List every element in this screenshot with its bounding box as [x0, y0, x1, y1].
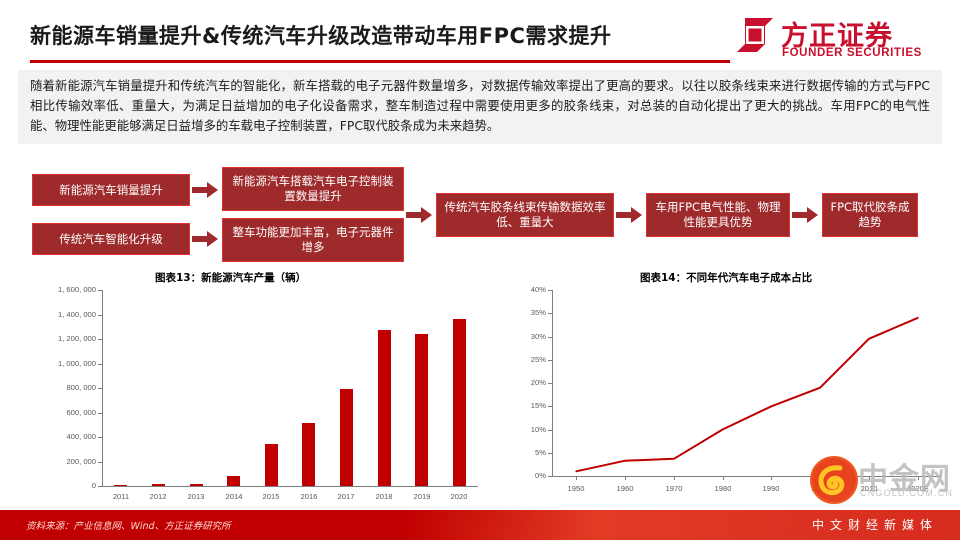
bar-chart-y-tick: [98, 364, 102, 365]
flow-diagram: 新能源汽车销量提升 传统汽车智能化升级 新能源汽车搭载汽车电子控制装置数量提升 …: [0, 166, 960, 274]
bar-chart-x-tick-label: 2014: [216, 492, 252, 501]
line-chart-electronics-cost: 图表14：不同年代汽车电子成本占比 0%5%10%15%20%25%30%35%…: [492, 268, 952, 506]
bar-chart-y-tick: [98, 339, 102, 340]
slide-root: 新能源车销量提升&传统汽车升级改造带动车用FPC需求提升 方正证券 FOUNDE…: [0, 0, 960, 540]
bar-chart-y-tick: [98, 315, 102, 316]
body-paragraph: 随着新能源汽车销量提升和传统汽车的智能化，新车搭载的电子元器件数量增多，对数据传…: [30, 76, 930, 136]
bar-chart-x-tick-label: 2020: [441, 492, 477, 501]
bar-chart-y-tick-label: 1, 200, 000: [32, 334, 96, 343]
arrow-right-icon-5: [792, 207, 818, 223]
bar-chart-y-tick-label: 600, 000: [32, 408, 96, 417]
bar-chart-x-tick-label: 2018: [366, 492, 402, 501]
bar-chart-x-tick-label: 2017: [328, 492, 364, 501]
bar-chart-x-tick-label: 2012: [140, 492, 176, 501]
line-chart-x-tick-label: 1960: [605, 484, 645, 493]
bar-chart-y-tick-label: 1, 000, 000: [32, 359, 96, 368]
bar-chart-bar: [415, 334, 428, 486]
bar-chart-y-tick: [98, 413, 102, 414]
body-paragraph-panel: 随着新能源汽车销量提升和传统汽车的智能化，新车搭载的电子元器件数量增多，对数据传…: [18, 70, 942, 144]
line-chart-x-tick: [771, 476, 772, 480]
bar-chart-y-tick: [98, 437, 102, 438]
line-chart-x-tick-label: 1980: [703, 484, 743, 493]
footer-watermark-text: 中文财经新媒体: [812, 516, 938, 533]
logo-english-name: FOUNDER SECURITIES: [782, 47, 922, 59]
slide-footer: 资料来源：产业信息网、Wind、方正证券研究所 中文财经新媒体: [0, 510, 960, 540]
arrow-right-icon-3: [406, 207, 432, 223]
bar-chart-bar: [302, 423, 315, 486]
bar-chart-bar: [378, 330, 391, 486]
bar-chart-y-tick: [98, 486, 102, 487]
line-chart-x-tick: [674, 476, 675, 480]
line-chart-x-tick: [723, 476, 724, 480]
bar-chart-y-tick-label: 1, 400, 000: [32, 310, 96, 319]
bar-chart-bar: [227, 476, 240, 486]
founder-securities-logo: 方正证券 FOUNDER SECURITIES: [737, 16, 942, 66]
bar-chart-x-tick-label: 2015: [253, 492, 289, 501]
line-chart-x-tick: [869, 476, 870, 480]
flow-box-2: 传统汽车智能化升级: [32, 223, 190, 255]
line-chart-x-tick-label: 1990: [751, 484, 791, 493]
bar-chart-y-tick: [98, 290, 102, 291]
bar-chart-y-tick: [98, 388, 102, 389]
bar-chart-y-tick-label: 200, 000: [32, 457, 96, 466]
arrow-right-icon-4: [616, 207, 642, 223]
bar-chart-x-tick-label: 2016: [291, 492, 327, 501]
bar-chart-y-tick-label: 1, 600, 000: [32, 285, 96, 294]
flow-box-3: 新能源汽车搭载汽车电子控制装置数量提升: [222, 167, 404, 211]
bar-chart-bar: [114, 485, 127, 486]
bar-chart-bar: [152, 484, 165, 486]
bar-chart-x-tick-label: 2011: [103, 492, 139, 501]
bar-chart-y-tick-label: 800, 000: [32, 383, 96, 392]
flow-box-4: 整车功能更加丰富，电子元器件增多: [222, 218, 404, 262]
bar-chart-production: 图表13：新能源汽车产量（辆） 0200, 000400, 000600, 00…: [30, 268, 480, 506]
line-chart-x-tick: [820, 476, 821, 480]
title-underline: [30, 60, 730, 63]
arrow-right-icon-1: [192, 182, 218, 198]
flow-box-7: FPC取代胶条成趋势: [822, 193, 918, 237]
line-chart-x-tick: [576, 476, 577, 480]
arrow-right-icon-2: [192, 231, 218, 247]
line-chart-x-tick-label: 2020E: [898, 484, 938, 493]
line-chart-series: [492, 268, 952, 506]
flow-box-6: 车用FPC电气性能、物理性能更具优势: [646, 193, 790, 237]
flow-box-1: 新能源汽车销量提升: [32, 174, 190, 206]
bar-chart-bar: [265, 444, 278, 486]
line-chart-x-tick-label: 1950: [556, 484, 596, 493]
line-chart-x-tick: [918, 476, 919, 480]
footer-source-text: 资料来源：产业信息网、Wind、方正证券研究所: [26, 518, 231, 532]
slide-header: 新能源车销量提升&传统汽车升级改造带动车用FPC需求提升 方正证券 FOUNDE…: [0, 0, 960, 68]
bar-chart-plot-area: 0200, 000400, 000600, 000800, 0001, 000,…: [30, 268, 480, 506]
line-chart-x-tick: [625, 476, 626, 480]
bar-chart-bar: [340, 389, 353, 486]
bar-chart-x-tick-label: 2019: [404, 492, 440, 501]
bar-chart-bar: [190, 484, 203, 486]
flow-box-5: 传统汽车胶条线束传输数据效率低、重量大: [436, 193, 614, 237]
bar-chart-y-tick-label: 400, 000: [32, 432, 96, 441]
bar-chart-x-axis: [102, 486, 478, 487]
line-chart-x-tick-label: 1970: [654, 484, 694, 493]
page-title: 新能源车销量提升&传统汽车升级改造带动车用FPC需求提升: [30, 20, 611, 50]
bar-chart-x-tick-label: 2013: [178, 492, 214, 501]
bar-chart-y-axis: [102, 290, 103, 486]
bar-chart-bar: [453, 319, 466, 486]
bar-chart-y-tick-label: 0: [32, 481, 96, 490]
line-chart-x-tick-label: 2010: [849, 484, 889, 493]
line-chart-plot-area: 0%5%10%15%20%25%30%35%40%195019601970198…: [492, 268, 952, 506]
logo-hexagon-icon: [737, 18, 773, 52]
bar-chart-y-tick: [98, 462, 102, 463]
line-chart-x-tick-label: 2000: [800, 484, 840, 493]
